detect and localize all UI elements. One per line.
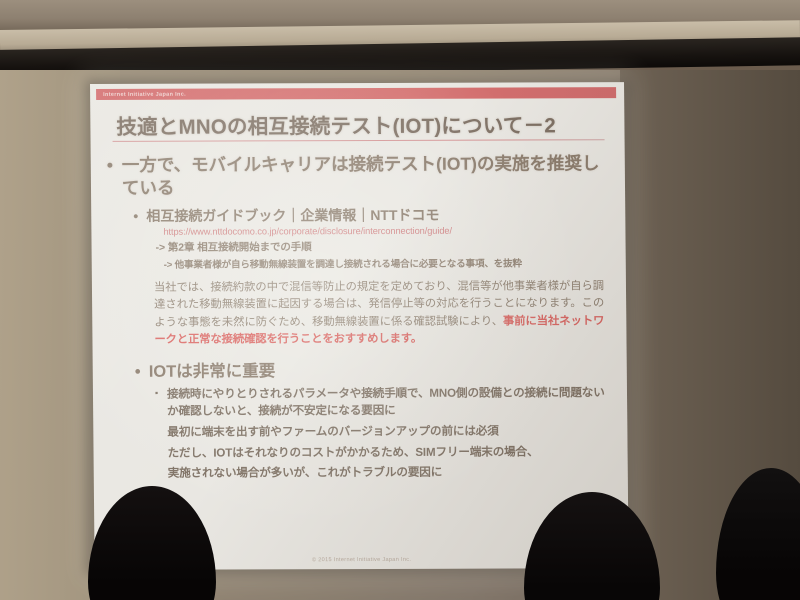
- brand-bar-label: Internet Initiative Japan Inc.: [96, 91, 186, 97]
- main-bullet-1-text: 一方で、モバイルキャリアは接続テスト(IOT)の実施を推奨している: [122, 152, 612, 199]
- detail-item-3-text: ただし、IOTはそれなりのコストがかかるため、SIMフリー端末の場合、: [167, 444, 615, 462]
- presentation-photo: Internet Initiative Japan Inc. 技適とMNOの相互…: [0, 0, 800, 600]
- bullet-marker: ▪: [155, 387, 167, 421]
- detail-item-2: 最初に端末を出す前やファームのバージョンアップの前には必須: [155, 423, 615, 441]
- arrow-line-1: -> 第2章 相互接続開始までの手順: [155, 238, 625, 255]
- sub-bullet-1-text: 相互接続ガイドブック｜企業情報｜NTTドコモ: [146, 205, 439, 224]
- detail-item-1-text: 接続時にやりとりされるパラメータや接続手順で、MNO側の設備との接続に問題ないか…: [167, 385, 615, 420]
- slide-brand-bar: Internet Initiative Japan Inc.: [96, 87, 616, 100]
- bullet-marker: •: [135, 361, 149, 382]
- bullet-marker: [156, 466, 168, 483]
- slide-title: 技適とMNOの相互接続テスト(IOT)について－2: [116, 108, 598, 140]
- slide-body: • 一方で、モバイルキャリアは接続テスト(IOT)の実施を推奨している • 相互…: [91, 144, 628, 483]
- detail-item-3: ただし、IOTはそれなりのコストがかかるため、SIMフリー端末の場合、: [155, 444, 615, 462]
- main-bullet-2: • IOTは非常に重要: [135, 360, 605, 383]
- detail-item-1: ▪ 接続時にやりとりされるパラメータや接続手順で、MNO側の設備との接続に問題な…: [155, 385, 615, 420]
- main-bullet-1: • 一方で、モバイルキャリアは接続テスト(IOT)の実施を推奨している: [107, 152, 612, 199]
- detail-item-4-text: 実施されない場合が多いが、これがトラブルの要因に: [168, 464, 616, 482]
- bullet-marker: •: [133, 206, 146, 224]
- detail-item-4: 実施されない場合が多いが、これがトラブルの要因に: [156, 464, 616, 482]
- arrow-line-2: -> 他事業者様が自ら移動無線装置を調達し接続される場合に必要となる事項、を抜粋: [164, 255, 626, 271]
- main-bullet-2-text: IOTは非常に重要: [149, 361, 276, 383]
- sub-bullet-1: • 相互接続ガイドブック｜企業情報｜NTTドコモ: [133, 205, 603, 225]
- bullet-marker: •: [107, 154, 122, 200]
- detail-item-2-text: 最初に端末を出す前やファームのバージョンアップの前には必須: [167, 423, 615, 441]
- bullet-marker: [155, 445, 167, 462]
- bullet-marker: [155, 424, 167, 441]
- reference-url: https://www.nttdocomo.co.jp/corporate/di…: [163, 225, 625, 237]
- quoted-paragraph: 当社では、接続約款の中で混信等防止の規定を定めており、混信等が他事業者様が自ら調…: [154, 278, 605, 350]
